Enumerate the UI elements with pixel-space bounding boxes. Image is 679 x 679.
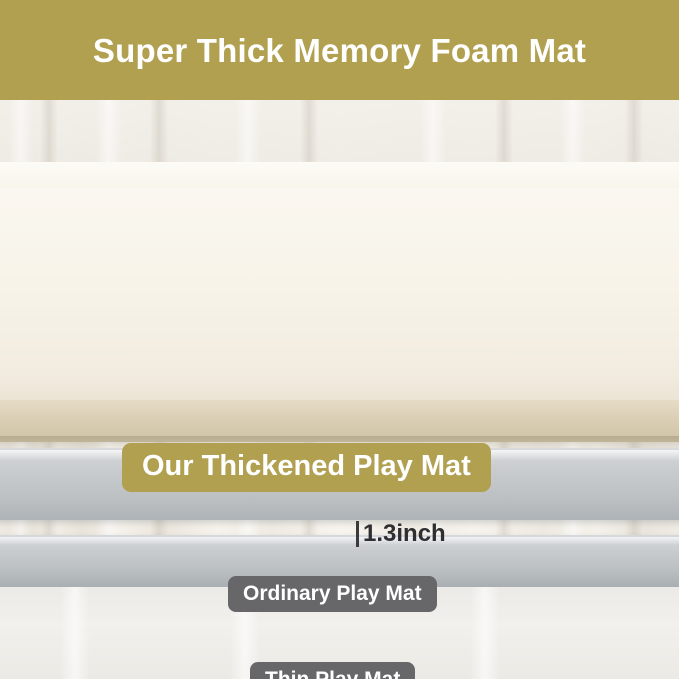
floor-streak — [60, 587, 90, 679]
label-thin-play-mat: Thin Play Mat — [250, 662, 415, 679]
floor-streak — [470, 587, 500, 679]
thick-play-mat-top-surface — [0, 162, 679, 188]
label-ordinary-play-mat: Ordinary Play Mat — [228, 576, 437, 612]
thickness-value: 1.3inch — [363, 522, 446, 546]
page-title: Super Thick Memory Foam Mat — [93, 34, 586, 67]
photo-area: Our Thickened Play Mat 1.3inch Ordinary … — [0, 100, 679, 679]
thickness-marker-icon — [356, 521, 359, 547]
label-our-thickened-play-mat: Our Thickened Play Mat — [122, 443, 491, 492]
thick-play-mat — [0, 170, 679, 430]
thickness-callout: 1.3inch — [356, 521, 446, 547]
header-banner: Super Thick Memory Foam Mat — [0, 0, 679, 100]
thin-play-mat-highlight — [0, 537, 679, 545]
product-image: Super Thick Memory Foam Mat Our Th — [0, 0, 679, 679]
